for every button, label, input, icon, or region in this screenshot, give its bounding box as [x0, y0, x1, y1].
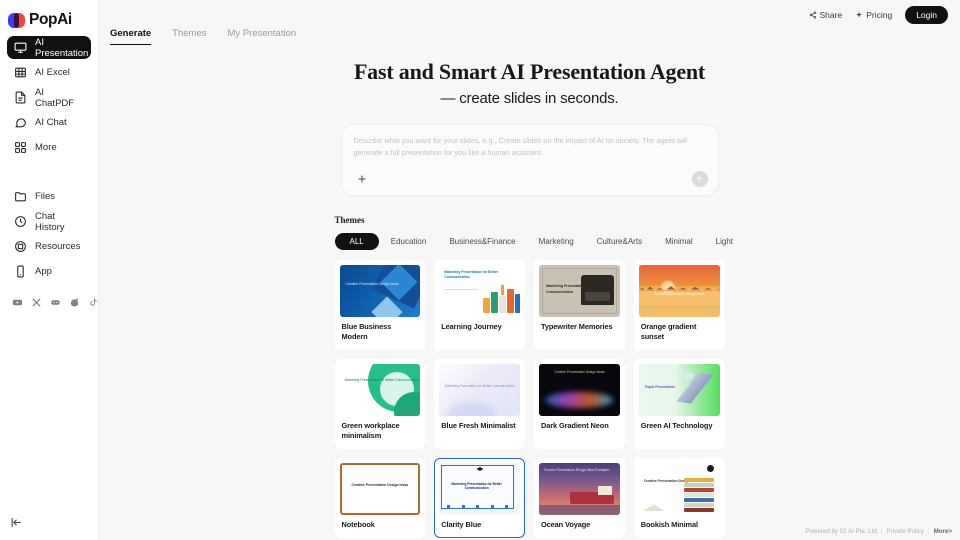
sidebar-item-label: App	[35, 266, 52, 277]
share-button[interactable]: Share	[809, 10, 843, 20]
theme-card-orange-gradient-sunset[interactable]: Creative Presentation Design Ideas Orang…	[634, 260, 725, 350]
thumb-text: Creative Presentation Design Ideas	[346, 282, 399, 287]
thumb-text: Creative Presentation Design Ideas Examp…	[544, 468, 609, 474]
prompt-placeholder: Describe what you want for your slides, …	[354, 135, 702, 159]
collapse-sidebar-icon[interactable]	[10, 516, 23, 529]
brand-name: PopAi	[29, 11, 72, 29]
thumb-text: Marketing Presentation for Better Commun…	[439, 384, 520, 389]
thumb-text: PopAi Presentation	[645, 385, 675, 390]
filter-chip-marketing[interactable]: Marketing	[528, 233, 585, 250]
footer: Powered by 01 AI Pte. Ltd | Private Poli…	[805, 528, 952, 535]
theme-card-label: Notebook	[340, 515, 421, 533]
theme-card-label: Blue Business Modern	[340, 317, 421, 345]
theme-thumbnail: Creative Presentation Design	[639, 463, 720, 515]
theme-card-label: Clarity Blue	[439, 515, 520, 533]
sidebar-divider-space	[7, 161, 91, 185]
theme-card-green-workplace-minimalism[interactable]: Marketing Presentation for Better Commun…	[335, 359, 426, 449]
theme-card-label: Bookish Minimal	[639, 515, 720, 533]
filter-chip-business-finance[interactable]: Business&Finance	[438, 233, 526, 250]
theme-thumbnail: Marketing Presentation for Better Commun…	[439, 463, 520, 515]
filter-chip-culture-arts[interactable]: Culture&Arts	[586, 233, 653, 250]
theme-card-notebook[interactable]: Creative Presentation Design Ideas Noteb…	[335, 458, 426, 538]
table-icon	[14, 66, 27, 79]
phone-icon	[14, 265, 27, 278]
sidebar-item-ai-chatpdf[interactable]: AI ChatPDF	[7, 86, 91, 109]
document-icon	[14, 91, 27, 104]
discord-icon[interactable]	[50, 297, 61, 308]
theme-filter-chips: ALL Education Business&Finance Marketing…	[335, 233, 725, 250]
grid-icon	[14, 141, 27, 154]
sidebar-item-label: Chat History	[35, 211, 84, 233]
tab-themes[interactable]: Themes	[172, 28, 206, 45]
hero-section: Fast and Smart AI Presentation Agent — c…	[99, 59, 960, 107]
themes-heading: Themes	[335, 215, 725, 225]
sidebar-item-resources[interactable]: Resources	[7, 235, 91, 258]
pricing-label: Pricing	[866, 10, 892, 20]
arrow-up-icon	[695, 175, 704, 184]
sidebar: PopAi AI Presentation AI Excel AI ChatPD…	[0, 0, 99, 540]
sidebar-item-app[interactable]: App	[7, 260, 91, 283]
thumb-text: Marketing Presentation for Better Commun…	[444, 270, 520, 281]
login-button[interactable]: Login	[905, 6, 948, 24]
footer-separator: |	[928, 528, 930, 535]
sidebar-item-label: More	[35, 142, 57, 153]
theme-card-label: Orange gradient sunset	[639, 317, 720, 345]
theme-thumbnail: Marketing Presentation for Better Commun…	[340, 364, 421, 416]
theme-thumbnail: PopAi Presentation	[639, 364, 720, 416]
theme-card-typewriter-memories[interactable]: Marketing Presentation for Better Commun…	[534, 260, 625, 350]
tab-my-presentation[interactable]: My Presentation	[228, 28, 297, 45]
theme-card-label: Dark Gradient Neon	[539, 416, 620, 434]
theme-thumbnail: Creative Presentation Design Ideas Examp…	[539, 463, 620, 515]
theme-grid: Creative Presentation Design Ideas Blue …	[335, 260, 725, 538]
footer-powered-by: Powered by 01 AI Pte. Ltd	[805, 528, 877, 535]
reddit-icon[interactable]	[69, 297, 80, 308]
send-button[interactable]	[692, 171, 708, 187]
theme-card-bookish-minimal[interactable]: Creative Presentation Design Bookish Min…	[634, 458, 725, 538]
theme-thumbnail: Creative Presentation Design Ideas	[639, 265, 720, 317]
thumb-text: Marketing Presentation for Better Commun…	[546, 284, 620, 295]
box-icon	[14, 240, 27, 253]
theme-card-label: Green workplace minimalism	[340, 416, 421, 444]
theme-card-ocean-voyage[interactable]: Creative Presentation Design Ideas Examp…	[534, 458, 625, 538]
theme-thumbnail: Marketing Presentation for Better Commun…	[439, 265, 520, 317]
social-links	[0, 291, 98, 308]
main-content: Share Pricing Login Generate Themes My P…	[99, 0, 960, 540]
top-bar: Share Pricing Login	[809, 0, 960, 24]
sidebar-nav: AI Presentation AI Excel AI ChatPDF AI C…	[0, 36, 98, 285]
theme-card-label: Ocean Voyage	[539, 515, 620, 533]
sidebar-item-ai-excel[interactable]: AI Excel	[7, 61, 91, 84]
theme-card-clarity-blue[interactable]: Marketing Presentation for Better Commun…	[434, 458, 525, 538]
presentation-icon	[14, 41, 27, 54]
thumb-text: Creative Presentation Design Ideas	[342, 483, 419, 487]
theme-card-blue-fresh-minimalist[interactable]: Marketing Presentation for Better Commun…	[434, 359, 525, 449]
sparkle-icon	[855, 11, 863, 19]
footer-more-link[interactable]: More>	[934, 528, 952, 535]
filter-chip-minimal[interactable]: Minimal	[654, 233, 704, 250]
chat-icon	[14, 116, 27, 129]
app-root: PopAi AI Presentation AI Excel AI ChatPD…	[0, 0, 960, 540]
theme-thumbnail: Creative Presentation Design Ideas	[340, 463, 421, 515]
page-subtitle: — create slides in seconds.	[99, 90, 960, 107]
brand-logo[interactable]: PopAi	[0, 0, 98, 30]
youtube-icon[interactable]	[12, 297, 23, 308]
footer-separator: |	[881, 528, 883, 535]
share-label: Share	[820, 10, 843, 20]
theme-card-label: Learning Journey	[439, 317, 520, 335]
sidebar-item-label: AI Excel	[35, 67, 70, 78]
theme-card-dark-gradient-neon[interactable]: Creative Presentation Design Ideas Dark …	[534, 359, 625, 449]
share-icon	[809, 11, 817, 19]
plus-icon[interactable]	[356, 173, 368, 185]
popai-logo-icon	[8, 13, 25, 28]
theme-card-blue-business-modern[interactable]: Creative Presentation Design Ideas Blue …	[335, 260, 426, 350]
sidebar-item-chat-history[interactable]: Chat History	[7, 210, 91, 233]
theme-thumbnail: Creative Presentation Design Ideas	[340, 265, 421, 317]
x-icon[interactable]	[31, 297, 42, 308]
sidebar-item-ai-presentation[interactable]: AI Presentation	[7, 36, 91, 59]
theme-thumbnail: Marketing Presentation for Better Commun…	[439, 364, 520, 416]
prompt-input-box[interactable]: Describe what you want for your slides, …	[341, 124, 719, 196]
clock-icon	[14, 215, 27, 228]
filter-chip-education[interactable]: Education	[380, 233, 438, 250]
tab-generate[interactable]: Generate	[110, 28, 151, 45]
sidebar-item-label: AI ChatPDF	[35, 87, 84, 109]
tiktok-icon[interactable]	[88, 297, 99, 308]
sidebar-item-label: AI Presentation	[35, 37, 88, 59]
thumb-text: Marketing Presentation for Better Commun…	[345, 378, 419, 384]
theme-card-label: Green AI Technology	[639, 416, 720, 434]
theme-card-green-ai-technology[interactable]: PopAi Presentation Green AI Technology	[634, 359, 725, 449]
page-title: Fast and Smart AI Presentation Agent	[99, 59, 960, 85]
themes-section: Themes ALL Education Business&Finance Ma…	[335, 215, 725, 540]
sidebar-item-label: AI Chat	[35, 117, 67, 128]
theme-card-label: Typewriter Memories	[539, 317, 620, 335]
theme-thumbnail: Marketing Presentation for Better Commun…	[539, 265, 620, 317]
filter-chip-all[interactable]: ALL	[335, 233, 379, 250]
theme-thumbnail: Creative Presentation Design Ideas	[539, 364, 620, 416]
folder-icon	[14, 190, 27, 203]
thumb-text: Creative Presentation Design Ideas	[639, 292, 720, 296]
pricing-button[interactable]: Pricing	[855, 10, 892, 20]
sidebar-item-more[interactable]: More	[7, 136, 91, 159]
footer-privacy-link[interactable]: Private Policy	[887, 528, 924, 535]
thumb-text: Marketing Presentation for Better Commun…	[439, 482, 514, 492]
theme-card-label: Blue Fresh Minimalist	[439, 416, 520, 434]
thumb-text: Creative Presentation Design Ideas	[539, 370, 620, 375]
sidebar-item-ai-chat[interactable]: AI Chat	[7, 111, 91, 134]
sidebar-item-files[interactable]: Files	[7, 185, 91, 208]
filter-chip-light[interactable]: Light	[705, 233, 744, 250]
sidebar-item-label: Files	[35, 191, 55, 202]
sidebar-item-label: Resources	[35, 241, 80, 252]
theme-card-learning-journey[interactable]: Marketing Presentation for Better Commun…	[434, 260, 525, 350]
